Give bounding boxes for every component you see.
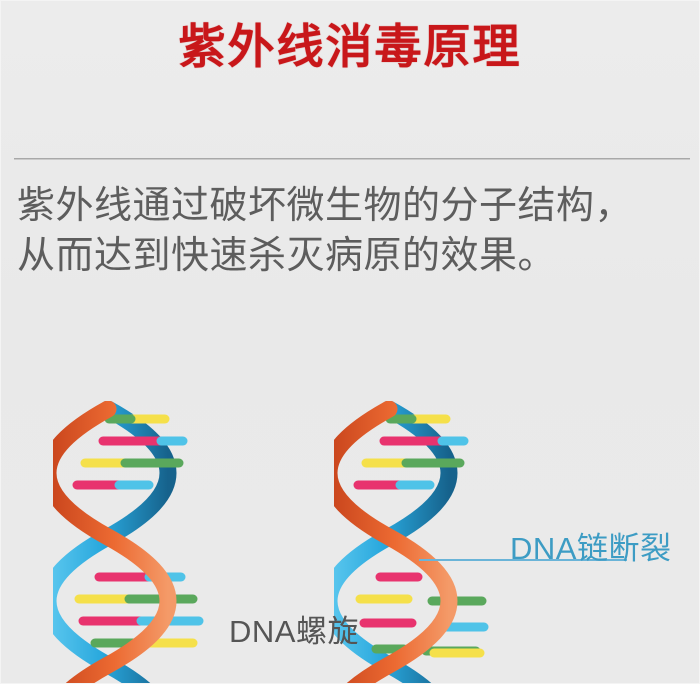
- description-line-1: 紫外线通过破坏微生物的分子结构，: [17, 185, 633, 227]
- dna-break-label: DNA链断裂: [510, 523, 671, 568]
- dna-helix-label: DNA螺旋: [229, 606, 359, 651]
- description-line-2: 从而达到快速杀灭病原的效果。: [17, 231, 687, 281]
- diagram-stage: DNA螺旋 DNA链断裂 （照射前） （照射后）: [1, 401, 700, 684]
- poster-root: 紫外线消毒原理 紫外线通过破坏微生物的分子结构， 从而达到快速杀灭病原的效果。: [0, 0, 700, 684]
- title-divider: [14, 158, 690, 160]
- description-text: 紫外线通过破坏微生物的分子结构， 从而达到快速杀灭病原的效果。: [17, 181, 687, 281]
- page-title: 紫外线消毒原理: [1, 17, 699, 77]
